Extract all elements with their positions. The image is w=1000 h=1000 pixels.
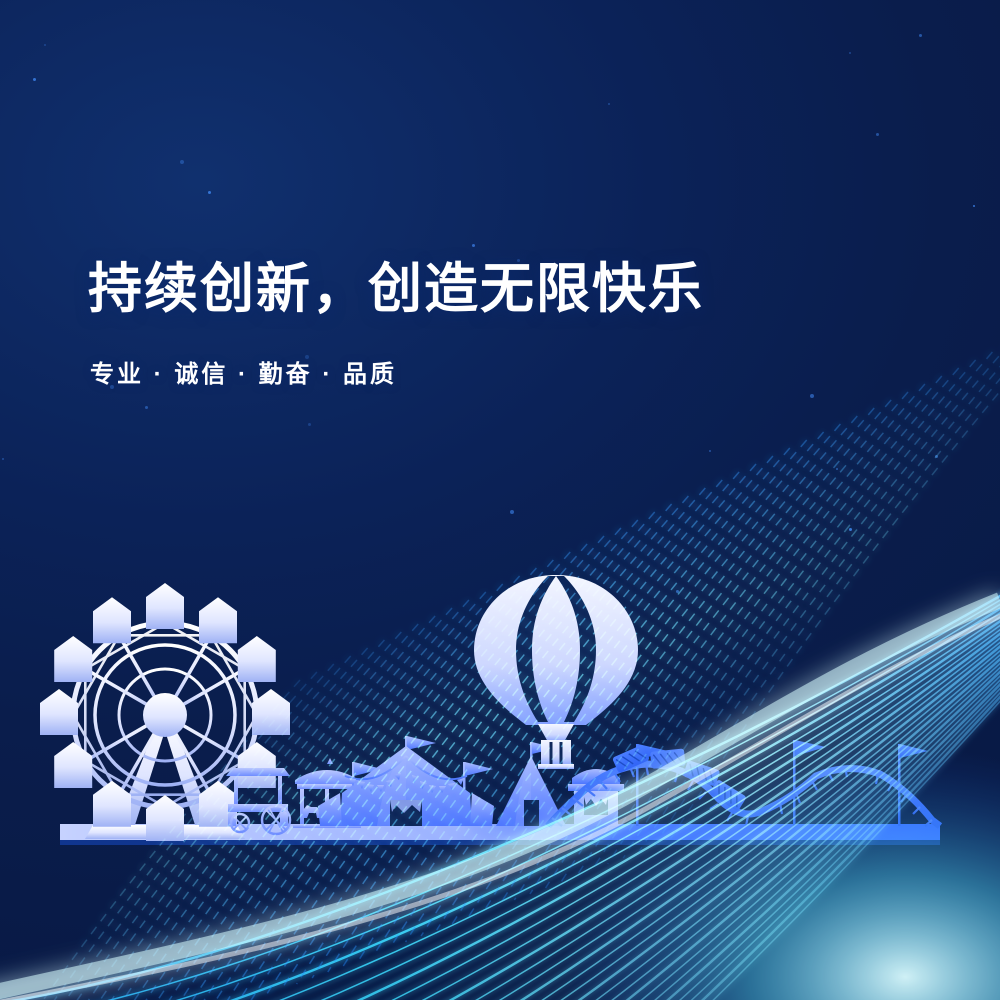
page-title: 持续创新，创造无限快乐 — [88, 258, 848, 320]
hero-text-block: 持续创新，创造无限快乐 专业 · 诚信 · 勤奋 · 品质 — [88, 258, 848, 389]
promo-banner: 持续创新，创造无限快乐 专业 · 诚信 · 勤奋 · 品质 — [0, 0, 1000, 1000]
glowing-mesh-wave — [0, 0, 1000, 1000]
wave-cross-line — [94, 616, 435, 1000]
subtitle-tagline: 专业 · 诚信 · 勤奋 · 品质 — [90, 354, 848, 389]
wave-cross-line — [79, 624, 418, 1000]
wave-glow — [430, 660, 1000, 1000]
